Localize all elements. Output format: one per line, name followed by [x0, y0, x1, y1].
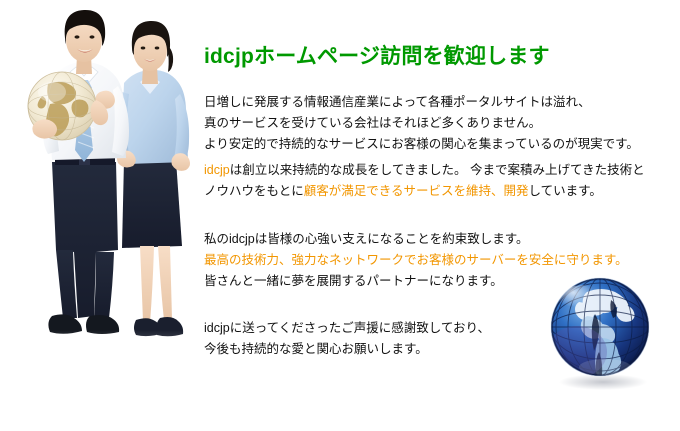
paragraph-growth-line-2-post: しています。 — [529, 184, 602, 198]
paragraph-promise-line-1: 私のidcjpは皆様の心強い支えになることを約束致します。 — [204, 229, 670, 250]
people-photo — [0, 0, 196, 400]
paragraph-growth-line-1: idcjpは創立以来持続的な成長をしてきました。 今まで案積み上げてきた技術と — [204, 160, 670, 181]
paragraph-growth-line-2-pre: ノウハウをもとに — [204, 184, 304, 198]
paragraph-growth-line-1-rest: は創立以来持続的な成長をしてきました。 今まで案積み上げてきた技術と — [230, 163, 645, 177]
blue-globe-graphic — [543, 272, 663, 392]
paragraph-growth-line-2: ノウハウをもとに顧客が満足できるサービスを維持、開発しています。 — [204, 181, 670, 202]
paragraph-growth: idcjpは創立以来持続的な成長をしてきました。 今まで案積み上げてきた技術と … — [204, 160, 670, 202]
page-root: idcjpホームページ訪問を歓迎します 日増しに発展する情報通信産業によって各種… — [0, 0, 680, 431]
paragraph-intro: 日増しに発展する情報通信産業によって各種ポータルサイトは溢れ、 真のサービスを受… — [204, 92, 670, 155]
brand-name-highlight: idcjp — [204, 163, 230, 177]
page-title: idcjpホームページ訪問を歓迎します — [204, 40, 550, 70]
paragraph-promise-line-2-highlight: 最高の技術力、強力なネットワークでお客様のサーバーを安全に守ります。 — [204, 250, 670, 271]
paragraph-intro-line-2: 真のサービスを受けている会社はそれほど多くありません。 — [204, 113, 670, 134]
service-highlight: 顧客が満足できるサービスを維持、開発 — [304, 184, 529, 198]
paragraph-intro-line-1: 日増しに発展する情報通信産業によって各種ポータルサイトは溢れ、 — [204, 92, 670, 113]
paragraph-intro-line-3: より安定的で持続的なサービスにお客様の関心を集まっているのが現実です。 — [204, 134, 670, 155]
